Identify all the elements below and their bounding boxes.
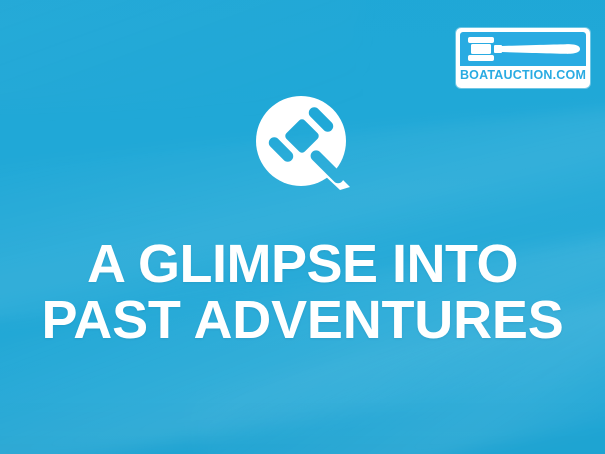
headline-line-2: PAST ADVENTURES <box>0 292 605 348</box>
logo-gavel-panel <box>460 32 586 66</box>
gavel-badge <box>256 96 350 190</box>
site-logo[interactable]: BOATAUCTION.COM <box>456 28 590 88</box>
promo-banner: A GLIMPSE INTO PAST ADVENTURES BOATAUCTI… <box>0 0 605 454</box>
headline: A GLIMPSE INTO PAST ADVENTURES <box>0 236 605 348</box>
gavel-icon <box>464 36 582 62</box>
headline-line-1: A GLIMPSE INTO <box>0 236 605 292</box>
gavel-icon <box>256 96 350 190</box>
logo-wordmark: BOATAUCTION.COM <box>460 66 586 84</box>
